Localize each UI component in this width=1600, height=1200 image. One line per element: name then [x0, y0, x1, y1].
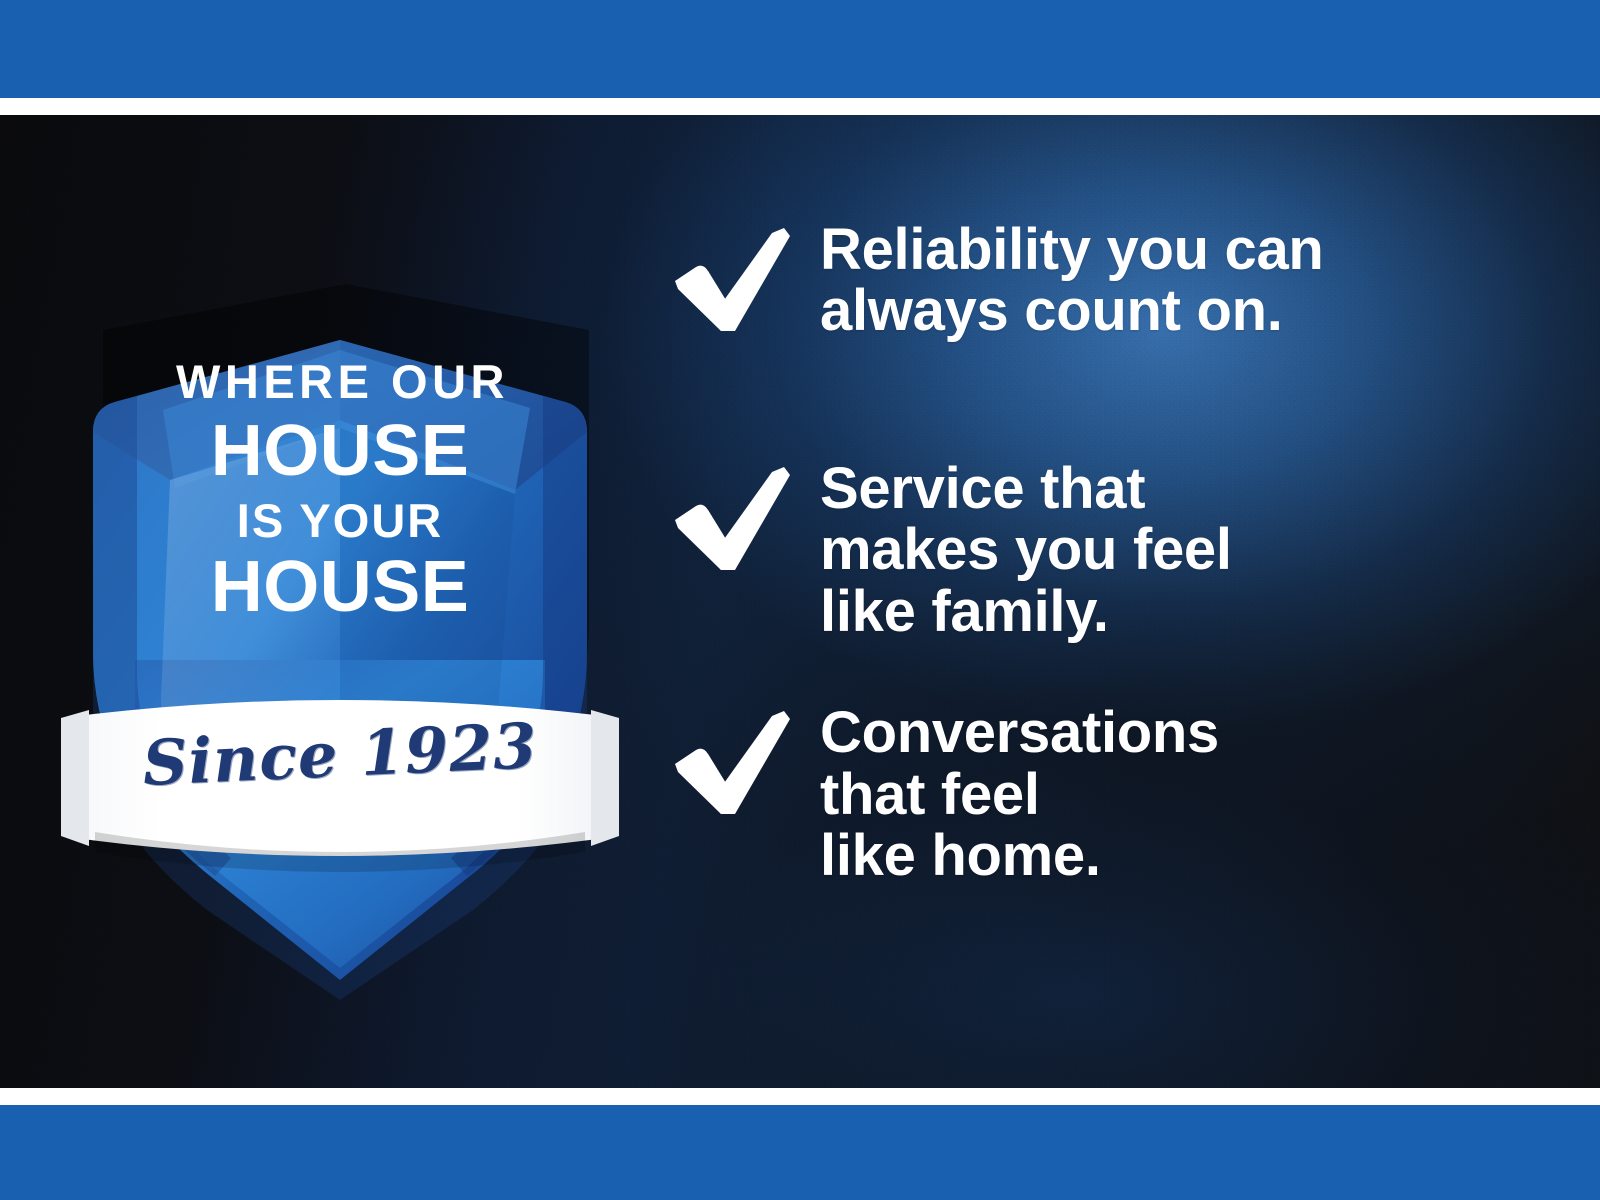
benefits-list: Reliability you can always count on. Ser… — [672, 215, 1502, 887]
checkmark-glyph — [672, 706, 794, 818]
frame-bar-top — [0, 0, 1600, 98]
poster-canvas: Where our House is your House Since 1923… — [0, 115, 1600, 1088]
frame-bar-bottom — [0, 1105, 1600, 1200]
benefit-item: Reliability you can always count on. — [672, 215, 1502, 342]
badge-headline: Where our House is your House — [75, 358, 605, 623]
badge-headline-line-3: is your — [75, 497, 605, 544]
checkmark-glyph — [672, 223, 794, 335]
checkmark-glyph — [672, 462, 794, 574]
badge-headline-line-4: House — [75, 551, 605, 623]
benefit-item: Conversations that feel like home. — [672, 698, 1502, 886]
benefit-item: Service that makes you feel like family. — [672, 454, 1502, 642]
frame-gap-bottom — [0, 1088, 1600, 1105]
badge-headline-line-1: Where our — [75, 358, 605, 405]
checkmark-icon — [672, 454, 820, 570]
benefit-text: Reliability you can always count on. — [820, 215, 1324, 342]
checkmark-icon — [672, 698, 820, 814]
promo-poster: Where our House is your House Since 1923… — [0, 0, 1600, 1200]
badge-headline-line-2: House — [75, 415, 605, 487]
benefit-text: Service that makes you feel like family. — [820, 454, 1232, 642]
checkmark-icon — [672, 215, 820, 331]
benefit-text: Conversations that feel like home. — [820, 698, 1219, 886]
frame-gap-top — [0, 98, 1600, 115]
shield-badge: Where our House is your House Since 1923 — [75, 280, 605, 940]
